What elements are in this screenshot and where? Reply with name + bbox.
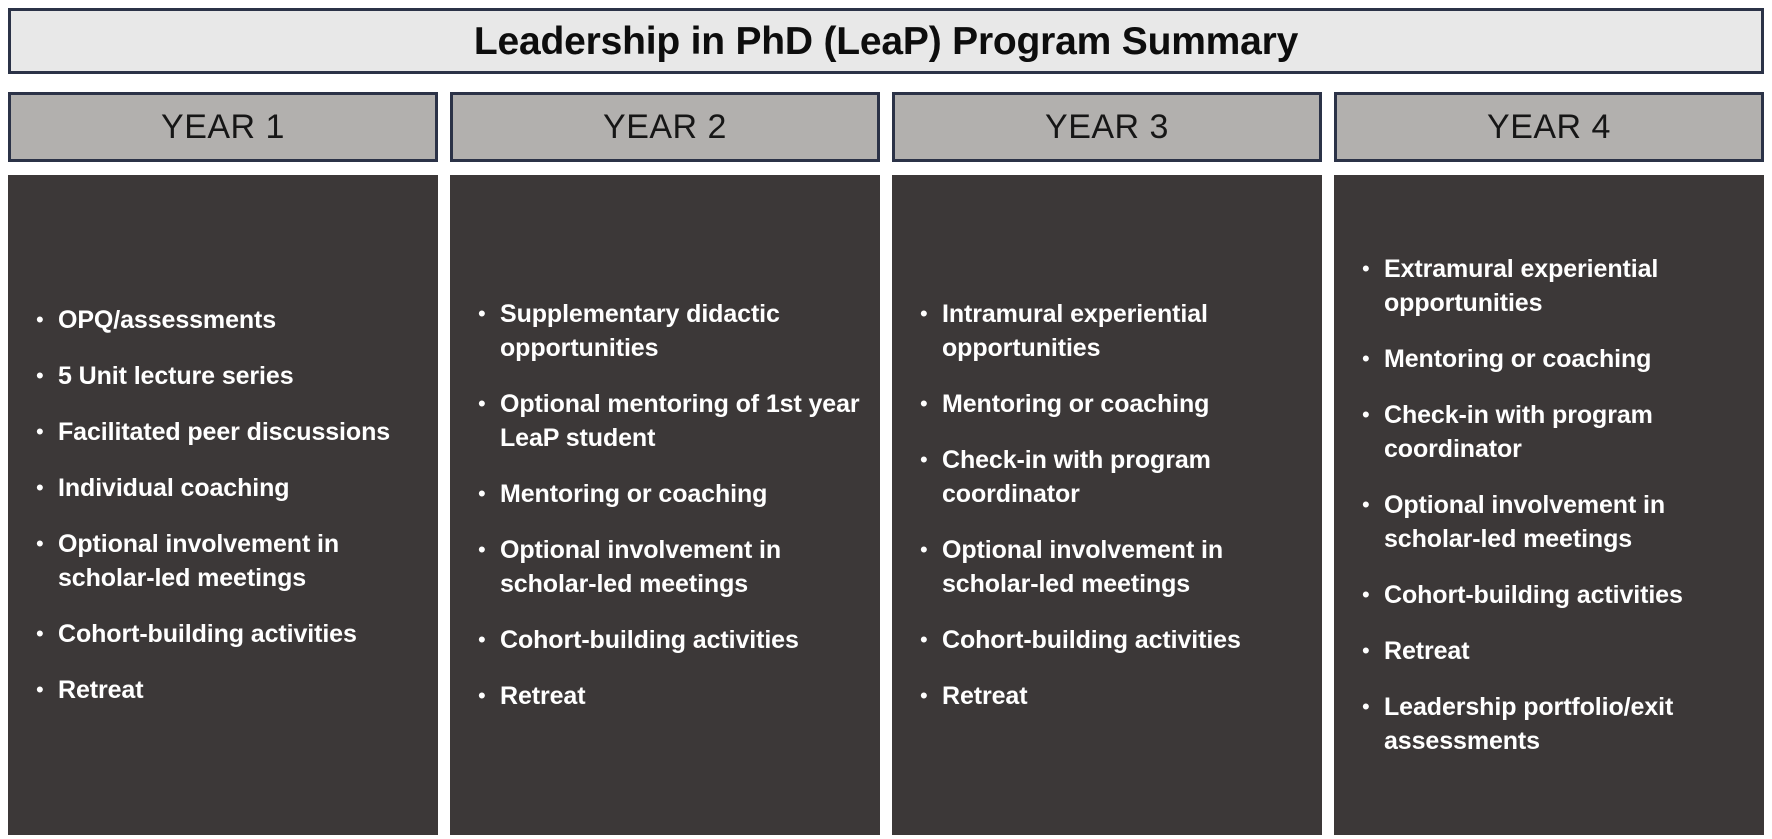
list-item-label: Optional involvement in scholar-led meet… [500, 533, 866, 601]
figure-title-bar: Leadership in PhD (LeaP) Program Summary [8, 8, 1764, 74]
list-item: •Cohort-building activities [902, 623, 1308, 657]
list-item: •Check-in with program coordinator [902, 443, 1308, 511]
list-item-label: Check-in with program coordinator [1384, 398, 1750, 466]
bullet-icon: • [1344, 252, 1384, 286]
year-panel-row: •OPQ/assessments•5 Unit lecture series•F… [8, 175, 1764, 835]
year-header-label: YEAR 4 [1487, 110, 1611, 144]
year-header-label: YEAR 3 [1045, 110, 1169, 144]
list-item-label: OPQ/assessments [58, 303, 424, 337]
bullet-icon: • [18, 527, 58, 561]
year-activity-list: •Intramural experiential opportunities•M… [902, 297, 1308, 713]
bullet-icon: • [902, 623, 942, 657]
bullet-icon: • [902, 297, 942, 331]
list-item: •Optional mentoring of 1st year LeaP stu… [460, 387, 866, 455]
list-item-label: Leadership portfolio/exit assessments [1384, 690, 1750, 758]
list-item: •OPQ/assessments [18, 303, 424, 337]
bullet-icon: • [460, 477, 500, 511]
year-header-4[interactable]: YEAR 4 [1334, 92, 1764, 162]
list-item: •Optional involvement in scholar-led mee… [460, 533, 866, 601]
bullet-icon: • [460, 387, 500, 421]
list-item: •Intramural experiential opportunities [902, 297, 1308, 365]
bullet-icon: • [1344, 634, 1384, 668]
bullet-icon: • [1344, 342, 1384, 376]
list-item: •Optional involvement in scholar-led mee… [1344, 488, 1750, 556]
list-item: •Retreat [902, 679, 1308, 713]
bullet-icon: • [460, 533, 500, 567]
list-item-label: Retreat [58, 673, 424, 707]
list-item: •Cohort-building activities [460, 623, 866, 657]
program-summary-figure: Leadership in PhD (LeaP) Program Summary… [0, 0, 1772, 839]
list-item: •Facilitated peer discussions [18, 415, 424, 449]
year-header-label: YEAR 2 [603, 110, 727, 144]
list-item-label: Cohort-building activities [1384, 578, 1750, 612]
year-header-label: YEAR 1 [161, 110, 285, 144]
bullet-icon: • [18, 617, 58, 651]
bullet-icon: • [1344, 690, 1384, 724]
list-item: •Retreat [1344, 634, 1750, 668]
list-item: •Cohort-building activities [1344, 578, 1750, 612]
year-header-1[interactable]: YEAR 1 [8, 92, 438, 162]
year-header-3[interactable]: YEAR 3 [892, 92, 1322, 162]
list-item-label: Facilitated peer discussions [58, 415, 424, 449]
list-item: •Cohort-building activities [18, 617, 424, 651]
list-item: •Retreat [18, 673, 424, 707]
bullet-icon: • [18, 673, 58, 707]
page-title: Leadership in PhD (LeaP) Program Summary [474, 22, 1298, 61]
list-item: •Check-in with program coordinator [1344, 398, 1750, 466]
list-item: •Supplementary didactic opportunities [460, 297, 866, 365]
list-item-label: Cohort-building activities [58, 617, 424, 651]
list-item: •Individual coaching [18, 471, 424, 505]
list-item: •Mentoring or coaching [460, 477, 866, 511]
list-item: •Mentoring or coaching [1344, 342, 1750, 376]
list-item-label: Cohort-building activities [500, 623, 866, 657]
list-item-label: Cohort-building activities [942, 623, 1308, 657]
list-item: •Optional involvement in scholar-led mee… [902, 533, 1308, 601]
year-panel-4: •Extramural experiential opportunities•M… [1334, 175, 1764, 835]
bullet-icon: • [18, 471, 58, 505]
bullet-icon: • [1344, 398, 1384, 432]
year-panel-1: •OPQ/assessments•5 Unit lecture series•F… [8, 175, 438, 835]
list-item-label: Retreat [500, 679, 866, 713]
list-item: •Optional involvement in scholar-led mee… [18, 527, 424, 595]
list-item-label: Mentoring or coaching [1384, 342, 1750, 376]
list-item-label: Optional involvement in scholar-led meet… [942, 533, 1308, 601]
list-item: •Leadership portfolio/exit assessments [1344, 690, 1750, 758]
bullet-icon: • [902, 533, 942, 567]
bullet-icon: • [18, 415, 58, 449]
bullet-icon: • [1344, 488, 1384, 522]
bullet-icon: • [18, 303, 58, 337]
list-item-label: Optional involvement in scholar-led meet… [1384, 488, 1750, 556]
year-panel-2: •Supplementary didactic opportunities•Op… [450, 175, 880, 835]
bullet-icon: • [460, 623, 500, 657]
list-item: •5 Unit lecture series [18, 359, 424, 393]
year-header-row: YEAR 1YEAR 2YEAR 3YEAR 4 [8, 92, 1764, 162]
year-panel-3: •Intramural experiential opportunities•M… [892, 175, 1322, 835]
bullet-icon: • [460, 679, 500, 713]
bullet-icon: • [460, 297, 500, 331]
list-item-label: 5 Unit lecture series [58, 359, 424, 393]
list-item: •Retreat [460, 679, 866, 713]
list-item-label: Optional mentoring of 1st year LeaP stud… [500, 387, 866, 455]
list-item: •Extramural experiential opportunities [1344, 252, 1750, 320]
year-activity-list: •Supplementary didactic opportunities•Op… [460, 297, 866, 713]
year-activity-list: •OPQ/assessments•5 Unit lecture series•F… [18, 303, 424, 707]
list-item-label: Optional involvement in scholar-led meet… [58, 527, 424, 595]
list-item: •Mentoring or coaching [902, 387, 1308, 421]
bullet-icon: • [1344, 578, 1384, 612]
list-item-label: Extramural experiential opportunities [1384, 252, 1750, 320]
list-item-label: Mentoring or coaching [942, 387, 1308, 421]
list-item-label: Intramural experiential opportunities [942, 297, 1308, 365]
bullet-icon: • [902, 387, 942, 421]
year-activity-list: •Extramural experiential opportunities•M… [1344, 252, 1750, 758]
bullet-icon: • [18, 359, 58, 393]
list-item-label: Check-in with program coordinator [942, 443, 1308, 511]
list-item-label: Retreat [942, 679, 1308, 713]
list-item-label: Supplementary didactic opportunities [500, 297, 866, 365]
list-item-label: Individual coaching [58, 471, 424, 505]
bullet-icon: • [902, 679, 942, 713]
list-item-label: Retreat [1384, 634, 1750, 668]
year-header-2[interactable]: YEAR 2 [450, 92, 880, 162]
list-item-label: Mentoring or coaching [500, 477, 866, 511]
bullet-icon: • [902, 443, 942, 477]
